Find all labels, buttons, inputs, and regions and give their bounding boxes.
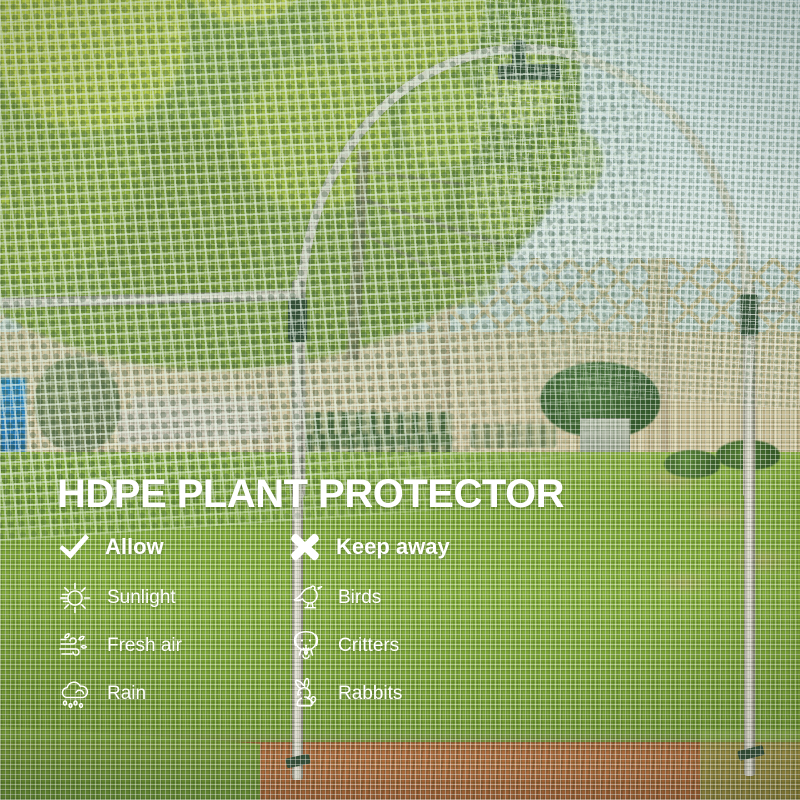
sun-icon (57, 580, 93, 616)
wind-leaves-icon (57, 628, 93, 664)
keep-away-heading: Keep away (336, 534, 450, 560)
product-lifestyle-image: HDPE PLANT PROTECTOR Allow Sunlight (0, 0, 800, 800)
rabbit-icon (288, 676, 324, 712)
allow-item-rain: Rain (57, 670, 182, 718)
keep-away-heading-row: Keep away (288, 530, 450, 564)
keep-away-item-label: Critters (338, 635, 399, 657)
product-title: HDPE PLANT PROTECTOR (57, 474, 564, 514)
rain-cloud-icon (57, 676, 93, 712)
allow-column: Allow Sunlight (57, 530, 182, 718)
allow-item-sunlight: Sunlight (57, 574, 182, 622)
allow-item-fresh-air: Fresh air (57, 622, 182, 670)
allow-item-label: Rain (107, 683, 146, 705)
allow-item-label: Sunlight (107, 587, 176, 609)
cross-icon (288, 532, 322, 562)
keep-away-item-critters: Critters (288, 622, 450, 670)
keep-away-item-birds: Birds (288, 574, 450, 622)
keep-away-item-rabbits: Rabbits (288, 670, 450, 718)
keep-away-item-label: Rabbits (338, 683, 402, 705)
bird-icon (288, 580, 324, 616)
check-icon (57, 532, 91, 562)
allow-heading-row: Allow (57, 530, 182, 564)
keep-away-column: Keep away Birds (288, 530, 450, 718)
allow-item-label: Fresh air (107, 635, 182, 657)
dog-icon (288, 628, 324, 664)
feature-panel: HDPE PLANT PROTECTOR Allow Sunlight (0, 462, 800, 744)
allow-heading: Allow (105, 534, 164, 560)
keep-away-item-label: Birds (338, 587, 381, 609)
